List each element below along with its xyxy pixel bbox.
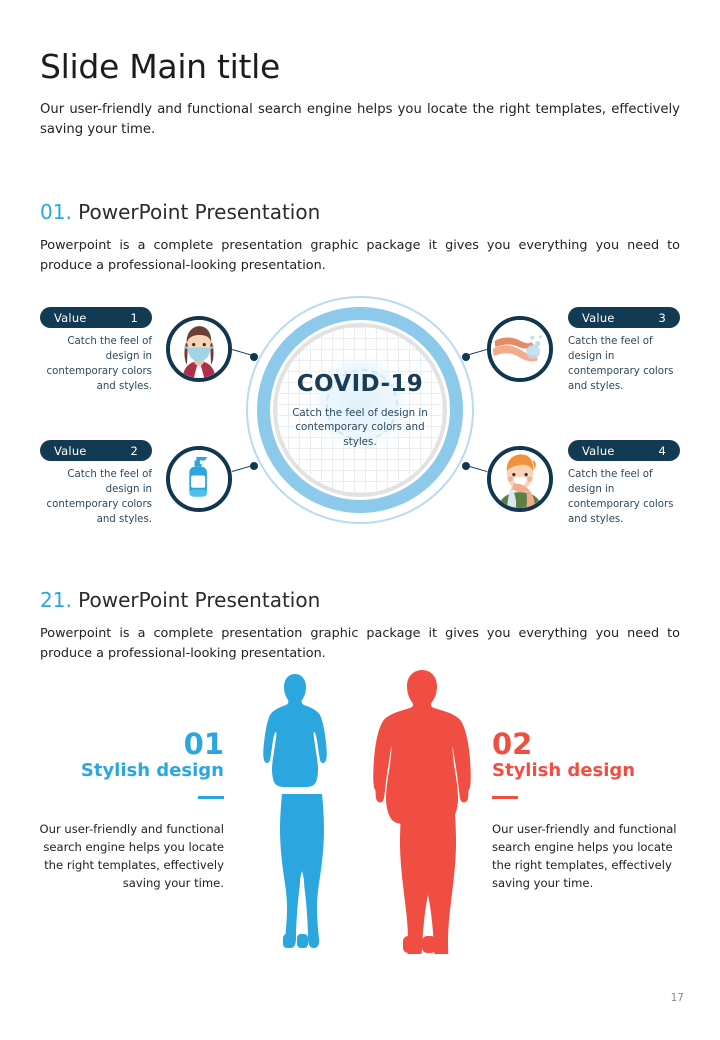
male-body-silhouette-icon (370, 668, 474, 958)
section-01-heading: 01. PowerPoint Presentation (40, 200, 685, 224)
connector-dot-3 (462, 353, 470, 361)
figure-02-title: Stylish design (492, 761, 678, 782)
value-text-1: Catch the feel of design in contemporary… (40, 334, 152, 394)
figure-block-01: 01 Stylish design Our user-friendly and … (38, 730, 224, 893)
covid-subtitle: Catch the feel of design in contemporary… (290, 406, 430, 450)
value-text-4: Catch the feel of design in contemporary… (568, 467, 680, 527)
section-01: 01. PowerPoint Presentation Powerpoint i… (40, 200, 685, 277)
section-21-title: PowerPoint Presentation (78, 588, 320, 612)
value-badge-3-label: Value (582, 311, 615, 325)
figure-01-title: Stylish design (38, 761, 224, 782)
figure-01-divider (198, 796, 224, 799)
value-badge-4[interactable]: Value 4 (568, 440, 680, 461)
section-21-body: Powerpoint is a complete presentation gr… (40, 624, 680, 665)
slide-header: Slide Main title Our user-friendly and f… (40, 48, 685, 141)
value-badge-3-number: 3 (658, 311, 666, 325)
section-01-number: 01. (40, 200, 72, 224)
page-number: 17 (671, 992, 684, 1004)
value-badge-1-label: Value (54, 311, 87, 325)
figure-block-02: 02 Stylish design Our user-friendly and … (492, 730, 678, 893)
value-badge-3[interactable]: Value 3 (568, 307, 680, 328)
slide-canvas: Slide Main title Our user-friendly and f… (0, 0, 720, 1040)
page-subtitle: Our user-friendly and functional search … (40, 100, 680, 141)
value-badge-4-number: 4 (658, 444, 666, 458)
section-01-title: PowerPoint Presentation (78, 200, 320, 224)
connector-dot-4 (462, 462, 470, 470)
connector-dot-1 (250, 353, 258, 361)
section-21-heading: 21. PowerPoint Presentation (40, 588, 685, 612)
value-badge-2-number: 2 (130, 444, 138, 458)
figure-01-body: Our user-friendly and functional search … (38, 821, 224, 893)
value-badge-2[interactable]: Value 2 (40, 440, 152, 461)
figure-02-body: Our user-friendly and functional search … (492, 821, 678, 893)
section-21: 21. PowerPoint Presentation Powerpoint i… (40, 588, 685, 665)
section-01-body: Powerpoint is a complete presentation gr… (40, 236, 680, 277)
connector-dot-2 (250, 462, 258, 470)
figures-section: 01 Stylish design Our user-friendly and … (0, 672, 720, 962)
woman-with-face-mask-icon[interactable] (166, 316, 232, 382)
diagram-center-content: COVID-19 Catch the feel of design in con… (277, 327, 443, 493)
page-title: Slide Main title (40, 48, 685, 86)
female-body-silhouette-icon (258, 672, 332, 954)
hand-washing-icon[interactable] (487, 316, 553, 382)
value-badge-1-number: 1 (130, 311, 138, 325)
figure-02-number: 02 (492, 730, 678, 759)
section-21-number: 21. (40, 588, 72, 612)
value-text-2: Catch the feel of design in contemporary… (40, 467, 152, 527)
covid-title: COVID-19 (297, 371, 423, 397)
figure-01-number: 01 (38, 730, 224, 759)
value-badge-4-label: Value (582, 444, 615, 458)
boy-sneezing-tissue-icon[interactable] (487, 446, 553, 512)
value-badge-1[interactable]: Value 1 (40, 307, 152, 328)
figure-02-divider (492, 796, 518, 799)
value-badge-2-label: Value (54, 444, 87, 458)
sanitizer-spray-bottle-icon[interactable] (166, 446, 232, 512)
value-text-3: Catch the feel of design in contemporary… (568, 334, 680, 394)
